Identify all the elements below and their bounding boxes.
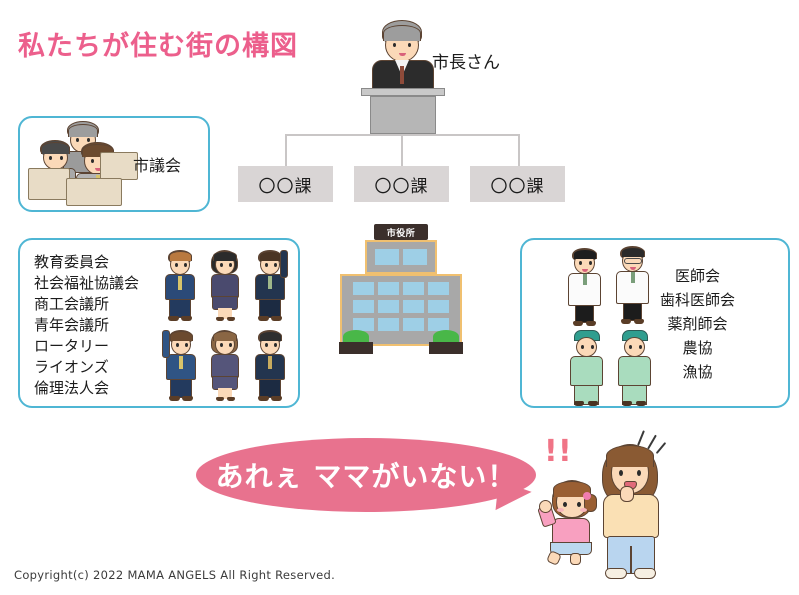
connector-drop-center <box>401 134 403 166</box>
mayor-figure <box>368 20 438 90</box>
connector-drop-right <box>518 134 520 166</box>
bp3-shoe-r <box>182 396 193 401</box>
department-box-2[interactable]: 〇〇課 <box>354 166 449 202</box>
bw2-bangs <box>213 331 237 341</box>
mayor-podium <box>370 96 436 134</box>
bw1-suit <box>211 274 239 298</box>
bw2-shoe-l <box>216 397 224 401</box>
bp1-shoe-r <box>181 316 192 321</box>
bw2-shoe-r <box>227 397 235 401</box>
list-item: 教育委員会 <box>34 252 139 273</box>
doc2-shoe-l <box>621 319 631 324</box>
council-eye-left-l <box>49 156 52 160</box>
agriculture-worker-1 <box>566 330 608 408</box>
child-top <box>552 518 590 544</box>
bp4-shoe-l <box>258 396 269 401</box>
bp1-eye-r <box>184 263 187 267</box>
businessperson-1 <box>161 250 199 322</box>
worker2-eye-l <box>629 345 632 349</box>
exclamation-mark-1: ! <box>544 437 558 467</box>
city-council-label: 市議会 <box>133 152 181 176</box>
doc1-tie <box>583 274 587 285</box>
doc1-hair-top <box>573 249 597 259</box>
child-hairtie <box>583 492 591 500</box>
city-hall-sign: 市役所 <box>374 224 428 240</box>
mother-shoe-right <box>634 568 656 579</box>
city-hall-window <box>378 300 399 313</box>
connector-drop-left <box>285 134 287 166</box>
list-item: 漁協 <box>660 360 735 384</box>
mayor-label: 市長さん <box>432 48 500 73</box>
child-figure <box>540 480 602 562</box>
mother-figure <box>594 442 670 580</box>
department-box-1[interactable]: 〇〇課 <box>238 166 333 202</box>
department-label: 〇〇課 <box>491 172 545 197</box>
mother-eye-right <box>637 470 641 476</box>
worker2-eye-r <box>639 345 642 349</box>
city-hall-window <box>403 300 424 313</box>
bp1-eye-l <box>175 263 178 267</box>
bw2-eye-r <box>229 343 232 347</box>
bp2-hair-top <box>259 251 282 261</box>
worker2-uniform <box>618 356 651 386</box>
bp3-raised-arm <box>162 330 170 358</box>
doc1-eye-l <box>579 261 582 265</box>
bp3-hair-top <box>170 331 193 341</box>
city-hall-window <box>375 249 399 265</box>
doc1-shoe-l <box>573 321 583 326</box>
bp4-eye-l <box>265 343 268 347</box>
bw1-shoe-r <box>227 317 235 321</box>
bp2-shoe-l <box>258 316 269 321</box>
child-eye-right <box>577 502 581 507</box>
city-hall-window <box>378 282 399 295</box>
businesswoman-2 <box>206 330 244 402</box>
city-hall-window <box>403 282 424 295</box>
mayor-eye-right <box>408 43 411 47</box>
worker2-shoe-r <box>636 401 646 406</box>
child-fist <box>539 500 552 513</box>
mother-bangs <box>606 445 654 467</box>
worker1-eye-r <box>591 345 594 349</box>
mother-hand <box>620 486 634 502</box>
list-item: 商工会議所 <box>34 294 139 315</box>
exclamation-mark-2: ! <box>558 437 572 467</box>
list-item: 青年会議所 <box>34 315 139 336</box>
mother-eye-left <box>619 470 623 476</box>
bp4-eye-r <box>274 343 277 347</box>
speech-bubble-text: あれぇ ママがいない！ <box>216 455 517 495</box>
bp3-eye-l <box>176 343 179 347</box>
doc2-hair-top <box>621 247 645 257</box>
bp2-shoe-r <box>271 316 282 321</box>
worker1-eye-l <box>581 345 584 349</box>
city-hall-window <box>428 300 449 313</box>
city-hall-window <box>403 318 424 331</box>
doc2-tie <box>631 272 635 283</box>
bp1-shoe-l <box>168 316 179 321</box>
bp2-eye-l <box>265 263 268 267</box>
bp4-tie <box>268 356 272 369</box>
fishery-worker-1 <box>614 330 656 408</box>
mayor-hair-top <box>383 25 421 41</box>
businesswoman-1 <box>206 250 244 322</box>
child-leg-right <box>570 553 581 565</box>
department-box-3[interactable]: 〇〇課 <box>470 166 565 202</box>
doc1-eye-r <box>589 261 592 265</box>
mother-jeans-split <box>630 546 632 574</box>
speech-bubble: あれぇ ママがいない！ <box>196 438 536 512</box>
doc1-shoe-r <box>586 321 596 326</box>
city-hall-planter-right <box>429 342 463 354</box>
council-desk-left <box>28 168 70 200</box>
copyright-text: Copyright(c) 2022 MAMA ANGELS All Right … <box>14 568 335 582</box>
worker2-shoe-l <box>622 401 632 406</box>
businessperson-2 <box>250 248 290 322</box>
worker1-shoe-l <box>574 401 584 406</box>
bp3-eye-r <box>185 343 188 347</box>
businessperson-4 <box>250 330 290 402</box>
list-item: 倫理法人会 <box>34 378 139 399</box>
doc2-glasses <box>624 258 642 264</box>
right-organizations-list: 医師会 歯科医師会 薬剤師会 農協 漁協 <box>660 264 735 384</box>
city-hall-planter-left <box>339 342 373 354</box>
businessperson-3 <box>161 328 201 402</box>
mayor-necktie <box>400 66 404 84</box>
city-hall-window <box>403 249 427 265</box>
bp2-eye-r <box>274 263 277 267</box>
bw1-bangs <box>213 251 237 261</box>
child-cheek-right <box>580 508 587 512</box>
poster-canvas: 私たちが住む街の構図 市長さん 〇〇課 〇〇課 〇〇課 <box>0 0 799 595</box>
council-eye-left-f <box>91 159 94 163</box>
doc2-shoe-r <box>634 319 644 324</box>
bw2-eye-l <box>220 343 223 347</box>
list-item: 薬剤師会 <box>660 312 735 336</box>
list-item: 社会福祉協議会 <box>34 273 139 294</box>
department-label: 〇〇課 <box>259 172 313 197</box>
council-hair-top-back <box>68 124 98 137</box>
city-hall-building: 市役所 <box>337 224 465 356</box>
city-hall-window <box>353 300 374 313</box>
council-desk-front <box>66 178 122 206</box>
doctor-1 <box>564 248 606 328</box>
bw1-eye-r <box>229 263 232 267</box>
list-item: 農協 <box>660 336 735 360</box>
worker1-uniform <box>570 356 603 386</box>
bp2-tie <box>268 276 272 289</box>
list-item: ライオンズ <box>34 357 139 378</box>
bp3-shoe-l <box>169 396 180 401</box>
bp4-hair-top <box>259 331 282 341</box>
mother-shoe-left <box>605 568 627 579</box>
doctor-2 <box>612 246 654 328</box>
mayor-eye-left <box>393 43 396 47</box>
mayor-podium-top <box>361 88 445 96</box>
list-item: ロータリー <box>34 336 139 357</box>
list-item: 歯科医師会 <box>660 288 735 312</box>
list-item: 医師会 <box>660 264 735 288</box>
left-organizations-list: 教育委員会 社会福祉協議会 商工会議所 青年会議所 ロータリー ライオンズ 倫理… <box>34 252 139 399</box>
bp3-tie <box>179 356 183 369</box>
city-hall-window <box>378 318 399 331</box>
bw1-shoe-l <box>216 317 224 321</box>
child-cheek-left <box>557 508 564 512</box>
city-hall-window <box>353 282 374 295</box>
bw1-eye-l <box>220 263 223 267</box>
bp1-tie <box>178 276 182 290</box>
council-hair-top-left <box>41 142 70 154</box>
page-title: 私たちが住む街の構図 <box>18 24 298 63</box>
child-eye-left <box>563 502 567 507</box>
bp2-raised-arm <box>280 250 288 278</box>
bw2-suit <box>211 354 239 378</box>
bp1-hair-top <box>169 251 192 261</box>
department-label: 〇〇課 <box>375 172 429 197</box>
bp4-shoe-r <box>271 396 282 401</box>
council-eye-right-l <box>60 156 63 160</box>
city-hall-window <box>428 282 449 295</box>
worker1-shoe-r <box>588 401 598 406</box>
